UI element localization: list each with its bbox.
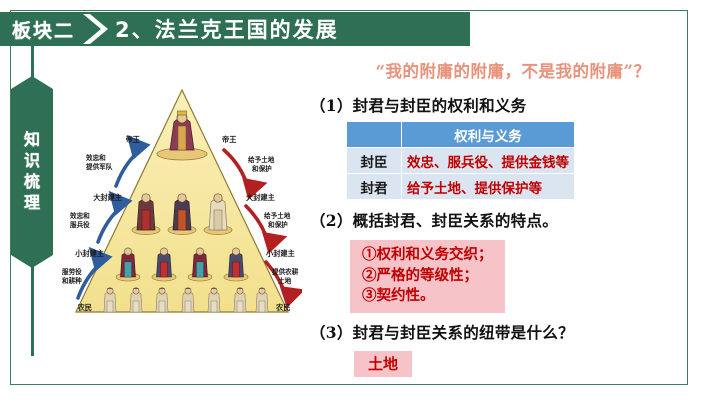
slide-canvas: 板块二 2、法兰克王国的发展 知 识 梳 理	[0, 0, 720, 405]
table-row: 封君 给予土地、提供保护等	[347, 174, 575, 200]
feudal-pyramid-diagram: 帝王 帝王 大封建主 大封建主 小封建主 小封建主 农民 农民 效忠和 提供军队…	[62, 84, 302, 329]
section-label: 板块二	[0, 16, 75, 43]
question-2-text: （2）概括封君、封臣关系的特点。	[310, 209, 710, 231]
chevron-right-icon	[79, 12, 113, 46]
arrow-caption-left-2b: 服兵役	[70, 220, 90, 229]
table-header-blank	[347, 122, 402, 148]
tier-figures-great-lords	[132, 194, 232, 235]
tier-label-left-3: 小封建主	[74, 249, 104, 258]
ribbon-char-3: 梳	[24, 174, 40, 191]
banner-title: 2、法兰克王国的发展	[115, 14, 339, 44]
lesson-quote: “我的附庸的附庸，不是我的附庸”？	[316, 58, 710, 82]
answer-box-question-3: 土地	[354, 351, 412, 377]
arrow-caption-right-3b: 土地	[278, 276, 292, 285]
arrow-caption-right-3a: 提供农耕	[272, 267, 299, 276]
ribbon-char-2: 识	[24, 153, 40, 170]
tier-label-left-1: 帝王	[126, 135, 140, 144]
answer-line-2: ②严格的等级性；	[362, 266, 493, 287]
tier-label-left-2: 大封建主	[93, 193, 122, 202]
tier-label-left-4: 农民	[77, 303, 92, 312]
ribbon-char-4: 理	[24, 195, 40, 212]
rights-duties-table: 权利与义务 封臣 效忠、服兵役、提供金钱等 封君 给予土地、提供保护等	[346, 121, 575, 200]
table-header-row: 权利与义务	[347, 122, 575, 148]
main-content: “我的附庸的附庸，不是我的附庸”？ （1）封君与封臣的权利和义务 权利与义务 封…	[310, 58, 710, 377]
answer-line-3: ③契约性。	[362, 286, 493, 307]
question-3-text: （3）封君与封臣关系的纽带是什么？	[310, 321, 710, 343]
sidebar-ribbon-knowledge-review: 知 识 梳 理	[11, 76, 53, 268]
table-header-rights-duties: 权利与义务	[402, 122, 575, 148]
answer-box-question-2: ①权利和义务交织； ②严格的等级性； ③契约性。	[350, 240, 505, 313]
header-banner: 板块二 2、法兰克王国的发展	[0, 12, 470, 46]
answer-line-1: ①权利和义务交织；	[362, 245, 493, 266]
table-row-key-lord: 封君	[347, 174, 402, 200]
tier-label-right-4: 农民	[275, 303, 290, 312]
tier-label-right-1: 帝王	[222, 135, 236, 144]
table-row-value-lord: 给予土地、提供保护等	[402, 174, 575, 200]
arrow-caption-right-2a: 给予土地	[264, 211, 291, 220]
ribbon-char-1: 知	[24, 132, 40, 149]
arrow-caption-left-3a: 服劳役	[62, 267, 82, 276]
table-row: 封臣 效忠、服兵役、提供金钱等	[347, 148, 575, 174]
arrow-caption-right-1b: 和保护	[251, 164, 272, 173]
answer-question-3: 土地	[368, 355, 398, 373]
arrow-caption-left-2a: 效忠和	[70, 211, 90, 220]
arrow-caption-left-1b: 提供军队	[86, 162, 113, 171]
arrow-caption-right-2b: 和保护	[267, 220, 288, 229]
arrow-caption-left-1a: 效忠和	[86, 153, 106, 162]
table-row-key-vassal: 封臣	[347, 148, 402, 174]
arrow-caption-right-1a: 给予土地	[248, 155, 275, 164]
tier-label-right-2: 大封建主	[246, 193, 275, 202]
tier-label-right-3: 小封建主	[265, 249, 295, 258]
question-1-text: （1）封君与封臣的权利和义务	[310, 94, 710, 116]
arrow-caption-left-3b: 和耕种	[62, 276, 82, 285]
table-row-value-vassal: 效忠、服兵役、提供金钱等	[402, 148, 575, 174]
